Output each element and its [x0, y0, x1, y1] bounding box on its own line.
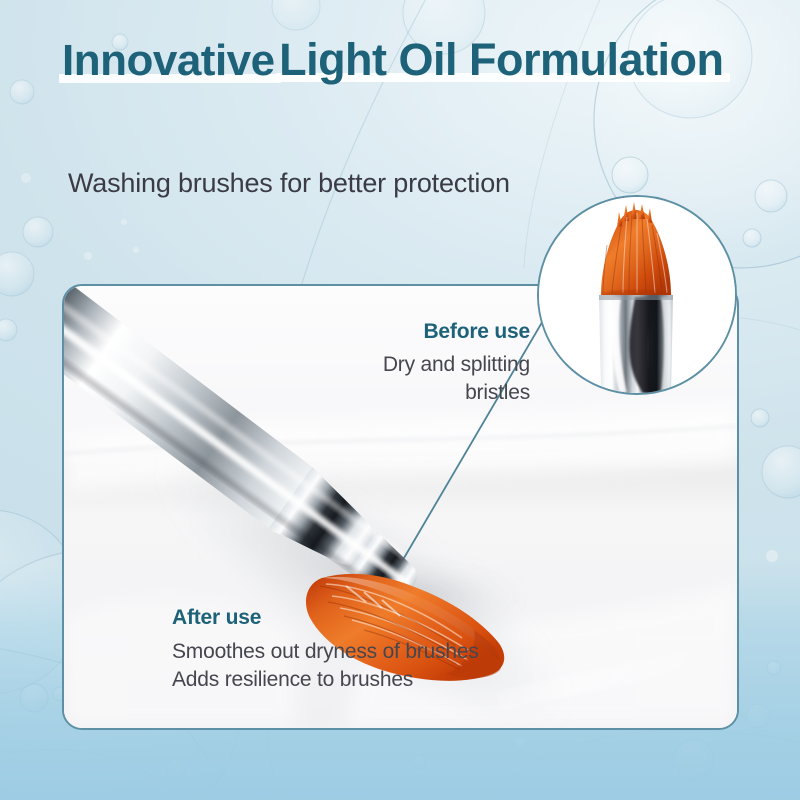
after-use-line-2: Adds resilience to brushes [172, 666, 602, 694]
magnifier-circle-icon [537, 195, 737, 395]
title-line-1-text: Innovative [62, 34, 275, 87]
title-line-1: Innovative [62, 34, 275, 87]
title-line-2-text: Light Oil Formulation [279, 33, 723, 86]
before-use-line-1: Dry and splitting [255, 351, 530, 379]
zoom-brush-closeup [539, 197, 735, 393]
before-use-line-2: bristles [255, 379, 530, 407]
subtitle: Washing brushes for better protection [68, 166, 510, 200]
infographic-canvas: Innovative Light Oil Formulation Washing… [0, 0, 800, 800]
title-line-2: Light Oil Formulation [279, 33, 723, 86]
page-title: Innovative Light Oil Formulation [62, 24, 724, 87]
callout-before-use: Before use Dry and splitting bristles [255, 318, 530, 407]
after-use-line-1: Smoothes out dryness of brushes [172, 638, 602, 666]
before-use-heading: Before use [255, 318, 530, 345]
after-use-heading: After use [172, 604, 602, 631]
callout-after-use: After use Smoothes out dryness of brushe… [172, 604, 602, 694]
